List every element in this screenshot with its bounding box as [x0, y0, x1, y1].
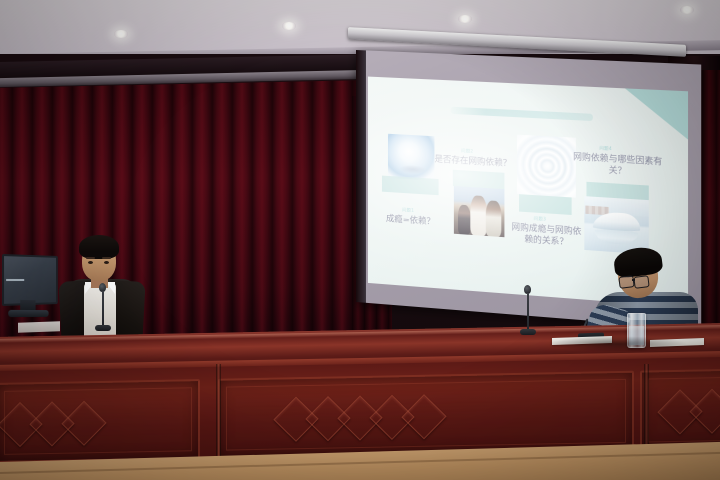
recessed-downlight	[114, 30, 128, 38]
monitor-base	[8, 310, 48, 317]
desk-shadow	[548, 336, 688, 352]
spiral-caption-bar	[519, 194, 572, 215]
microphone-stem	[102, 291, 104, 327]
screen-left-edge	[356, 50, 366, 303]
monitor-glare	[6, 279, 24, 281]
slide-item-text-q2: 是否存在网购依赖？	[434, 153, 511, 169]
slide-corner-accent	[625, 88, 688, 139]
slide-title-bar	[451, 107, 593, 121]
slide-item-label-q4: 问题4	[599, 145, 612, 152]
eyeglasses-icon	[633, 275, 649, 289]
building-reflection	[595, 229, 638, 245]
lcd-monitor[interactable]	[2, 255, 56, 317]
microphone-base	[95, 325, 111, 331]
presenter-brow-right	[102, 257, 111, 259]
eyeglasses-bridge	[632, 279, 635, 281]
globe-image	[388, 134, 435, 181]
slide-item-label-q3: 问题3	[534, 216, 547, 223]
microphone-right[interactable]	[520, 285, 540, 337]
microphone-stem	[527, 293, 529, 331]
presenter-brow-left	[86, 257, 95, 259]
papers[interactable]	[18, 321, 60, 332]
presenter-hair	[79, 235, 119, 259]
presenter-eye-left	[88, 261, 93, 264]
presenter-eye-right	[104, 261, 109, 264]
desk-panel	[640, 369, 720, 451]
slide-item-label-q1: 问题1	[402, 207, 414, 214]
slide-item-text-q3: 网购成瘾与网购依赖的关系？	[509, 221, 585, 249]
desk-panel	[0, 379, 200, 463]
desk-panel-seam	[216, 364, 221, 468]
recessed-downlight	[282, 22, 296, 30]
lecture-hall-photo: 问题1 成瘾=依赖？ 问题2 是否存在网购依赖？ 问题3 网购成瘾与网购依赖的关…	[0, 0, 720, 480]
microphone-left[interactable]	[95, 283, 115, 335]
slide-item-text-q1: 成瘾=依赖？	[386, 213, 435, 227]
building-image	[584, 196, 648, 254]
recessed-downlight	[680, 6, 694, 14]
globe-caption-bar	[382, 176, 439, 196]
slide-item-label-q2: 问题2	[461, 148, 473, 155]
person-figure	[486, 200, 502, 237]
person-figure	[458, 205, 470, 235]
people-photo	[454, 186, 505, 237]
spiral-image	[517, 135, 576, 198]
microphone-base	[520, 329, 536, 335]
recessed-downlight	[458, 15, 472, 23]
person-figure	[470, 195, 487, 236]
eyeglasses-icon	[618, 275, 634, 289]
slide-item-text-q4: 网购依赖与哪些因素有关？	[572, 151, 664, 179]
monitor-screen[interactable]	[2, 254, 58, 306]
